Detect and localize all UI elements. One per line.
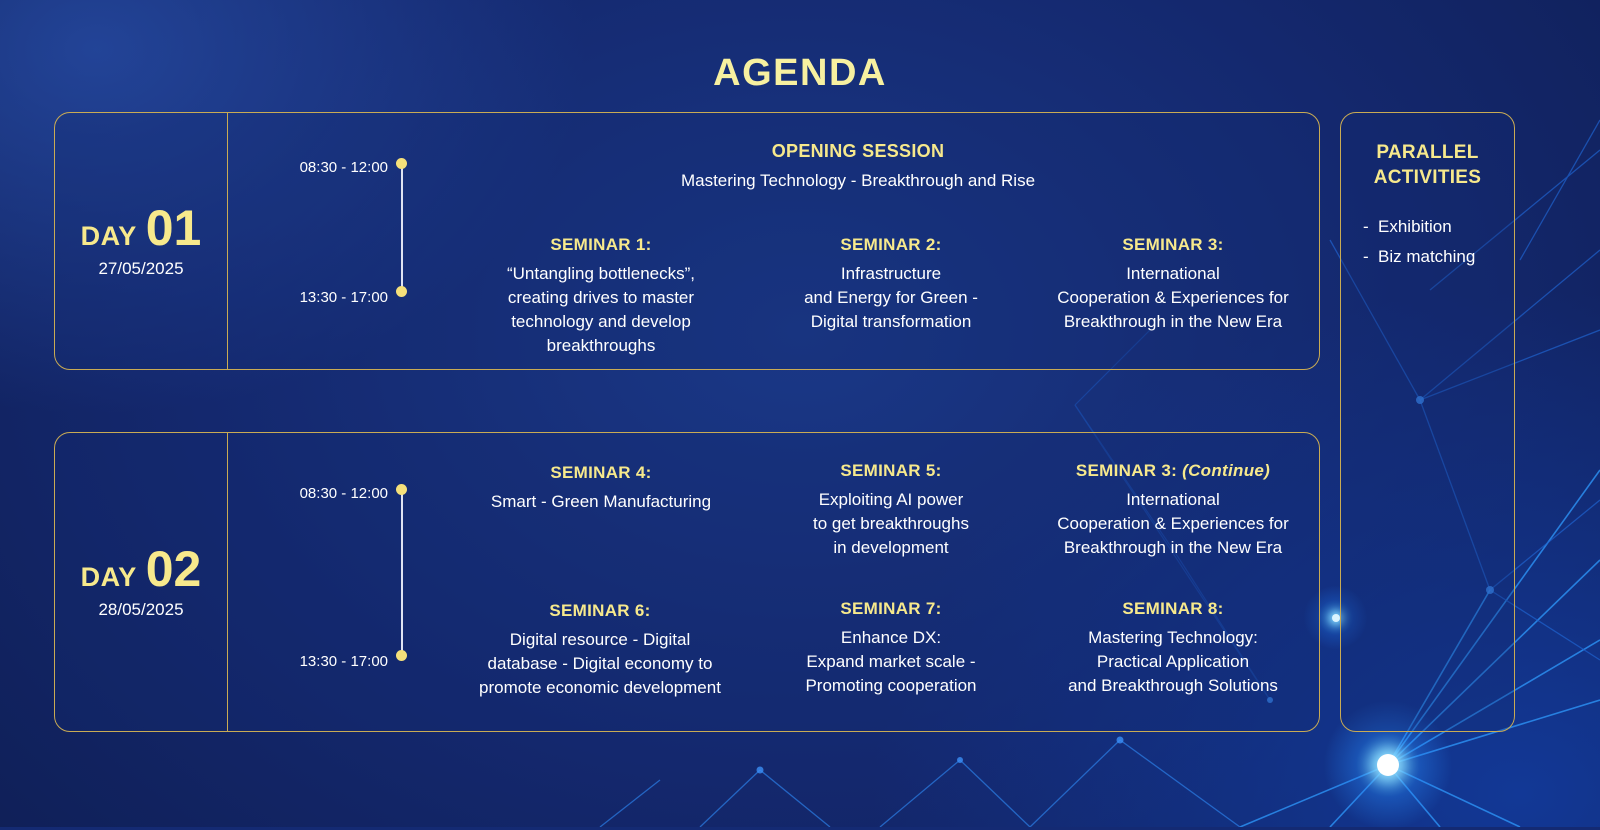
parallel-activities-list: - Exhibition - Biz matching [1353,216,1502,268]
day-1-seminar-2: SEMINAR 2: Infrastructureand Energy for … [756,235,1026,334]
seminar-6-body: Digital resource - Digitaldatabase - Dig… [440,628,760,700]
list-item: - Exhibition [1363,216,1502,238]
seminar-2-body: Infrastructureand Energy for Green -Digi… [756,262,1026,334]
day-2-time-afternoon: 13:30 - 17:00 [238,653,388,670]
day-2-seminar-4: SEMINAR 4: Smart - Green Manufacturing [456,463,746,514]
day-2-seminar-6: SEMINAR 6: Digital resource - Digitaldat… [440,601,760,700]
day-1-timeline-dot-top [396,158,407,169]
seminar-4-head-text: SEMINAR 4: [550,463,651,482]
seminar-3-head-text: SEMINAR 3: [1122,235,1223,254]
seminar-8-body: Mastering Technology:Practical Applicati… [1028,626,1318,698]
seminar-3-body: InternationalCooperation & Experiences f… [1028,262,1318,334]
seminar-7-body: Enhance DX:Expand market scale -Promotin… [756,626,1026,698]
seminar-1-head: SEMINAR 1: [456,235,746,255]
opening-session-head: OPENING SESSION [548,141,1168,162]
agenda-slide: AGENDA DAY 01 27/05/2025 08:30 - 12:00 1… [0,0,1600,827]
seminar-3-continue-body: InternationalCooperation & Experiences f… [1028,488,1318,560]
day-card-2: DAY 02 28/05/2025 08:30 - 12:00 13:30 - … [54,432,1320,732]
day-1-time-afternoon: 13:30 - 17:00 [238,289,388,306]
day-2-timeline-dot-bottom [396,650,407,661]
day-1-seminar-3: SEMINAR 3: InternationalCooperation & Ex… [1028,235,1318,334]
day-1-seminar-1: SEMINAR 1: “Untangling bottlenecks”,crea… [456,235,746,359]
parallel-title-line-1: PARALLEL [1353,141,1502,166]
list-item: - Biz matching [1363,246,1502,268]
parallel-item-label: Biz matching [1378,246,1475,268]
day-1-word: DAY [81,221,137,252]
parallel-activities-title: PARALLEL ACTIVITIES [1353,141,1502,190]
seminar-3-continue-head: SEMINAR 3: (Continue) [1028,461,1318,481]
dash-marker: - [1363,246,1378,268]
parallel-activities-panel: PARALLEL ACTIVITIES - Exhibition - Biz m… [1340,112,1515,732]
seminar-5-head: SEMINAR 5: [756,461,1026,481]
seminar-4-body: Smart - Green Manufacturing [456,490,746,514]
day-2-label: DAY 02 28/05/2025 [55,433,228,731]
day-2-date: 28/05/2025 [98,600,183,620]
seminar-3-head: SEMINAR 3: [1028,235,1318,255]
seminar-5-body: Exploiting AI powerto get breakthroughsi… [756,488,1026,560]
page-title: AGENDA [0,52,1600,95]
seminar-6-head: SEMINAR 6: [440,601,760,621]
seminar-8-head-text: SEMINAR 8: [1122,599,1223,618]
day-2-seminar-8: SEMINAR 8: Mastering Technology:Practica… [1028,599,1318,698]
day-2-number: 02 [146,544,202,594]
seminar-8-head: SEMINAR 8: [1028,599,1318,619]
day-2-title: DAY 02 [81,544,202,594]
day-1-date: 27/05/2025 [98,259,183,279]
day-2-time-morning: 08:30 - 12:00 [238,485,388,502]
day-2-timeline-line [401,489,403,656]
day-1-number: 01 [146,203,202,253]
day-2-seminar-7: SEMINAR 7: Enhance DX:Expand market scal… [756,599,1026,698]
parallel-title-line-2: ACTIVITIES [1353,166,1502,191]
dash-marker: - [1363,216,1378,238]
seminar-3-continue-head-text: SEMINAR 3: [1076,461,1177,480]
day-2-timeline-dot-top [396,484,407,495]
day-1-timeline [396,158,408,297]
day-2-content: 08:30 - 12:00 13:30 - 17:00 SEMINAR 4: S… [228,433,1319,731]
parallel-item-label: Exhibition [1378,216,1452,238]
seminar-2-head: SEMINAR 2: [756,235,1026,255]
day-1-time-morning: 08:30 - 12:00 [238,159,388,176]
day-2-seminar-5: SEMINAR 5: Exploiting AI powerto get bre… [756,461,1026,560]
opening-session-body: Mastering Technology - Breakthrough and … [548,169,1168,193]
seminar-7-head-text: SEMINAR 7: [840,599,941,618]
day-2-timeline [396,484,408,661]
day-card-1: DAY 01 27/05/2025 08:30 - 12:00 13:30 - … [54,112,1320,370]
seminar-1-head-text: SEMINAR 1: [550,235,651,254]
seminar-6-head-text: SEMINAR 6: [549,601,650,620]
seminar-2-head-text: SEMINAR 2: [840,235,941,254]
day-2-word: DAY [81,562,137,593]
day-1-title: DAY 01 [81,203,202,253]
seminar-5-head-text: SEMINAR 5: [840,461,941,480]
day-2-seminar-3-continue: SEMINAR 3: (Continue) InternationalCoope… [1028,461,1318,560]
day-1-timeline-dot-bottom [396,286,407,297]
day-1-content: 08:30 - 12:00 13:30 - 17:00 OPENING SESS… [228,113,1319,369]
seminar-7-head: SEMINAR 7: [756,599,1026,619]
day-1-opening-session: OPENING SESSION Mastering Technology - B… [548,141,1168,193]
day-1-label: DAY 01 27/05/2025 [55,113,228,369]
seminar-3-continue-note: (Continue) [1182,461,1270,480]
seminar-1-body: “Untangling bottlenecks”,creating drives… [456,262,746,359]
day-1-timeline-line [401,163,403,292]
seminar-4-head: SEMINAR 4: [456,463,746,483]
